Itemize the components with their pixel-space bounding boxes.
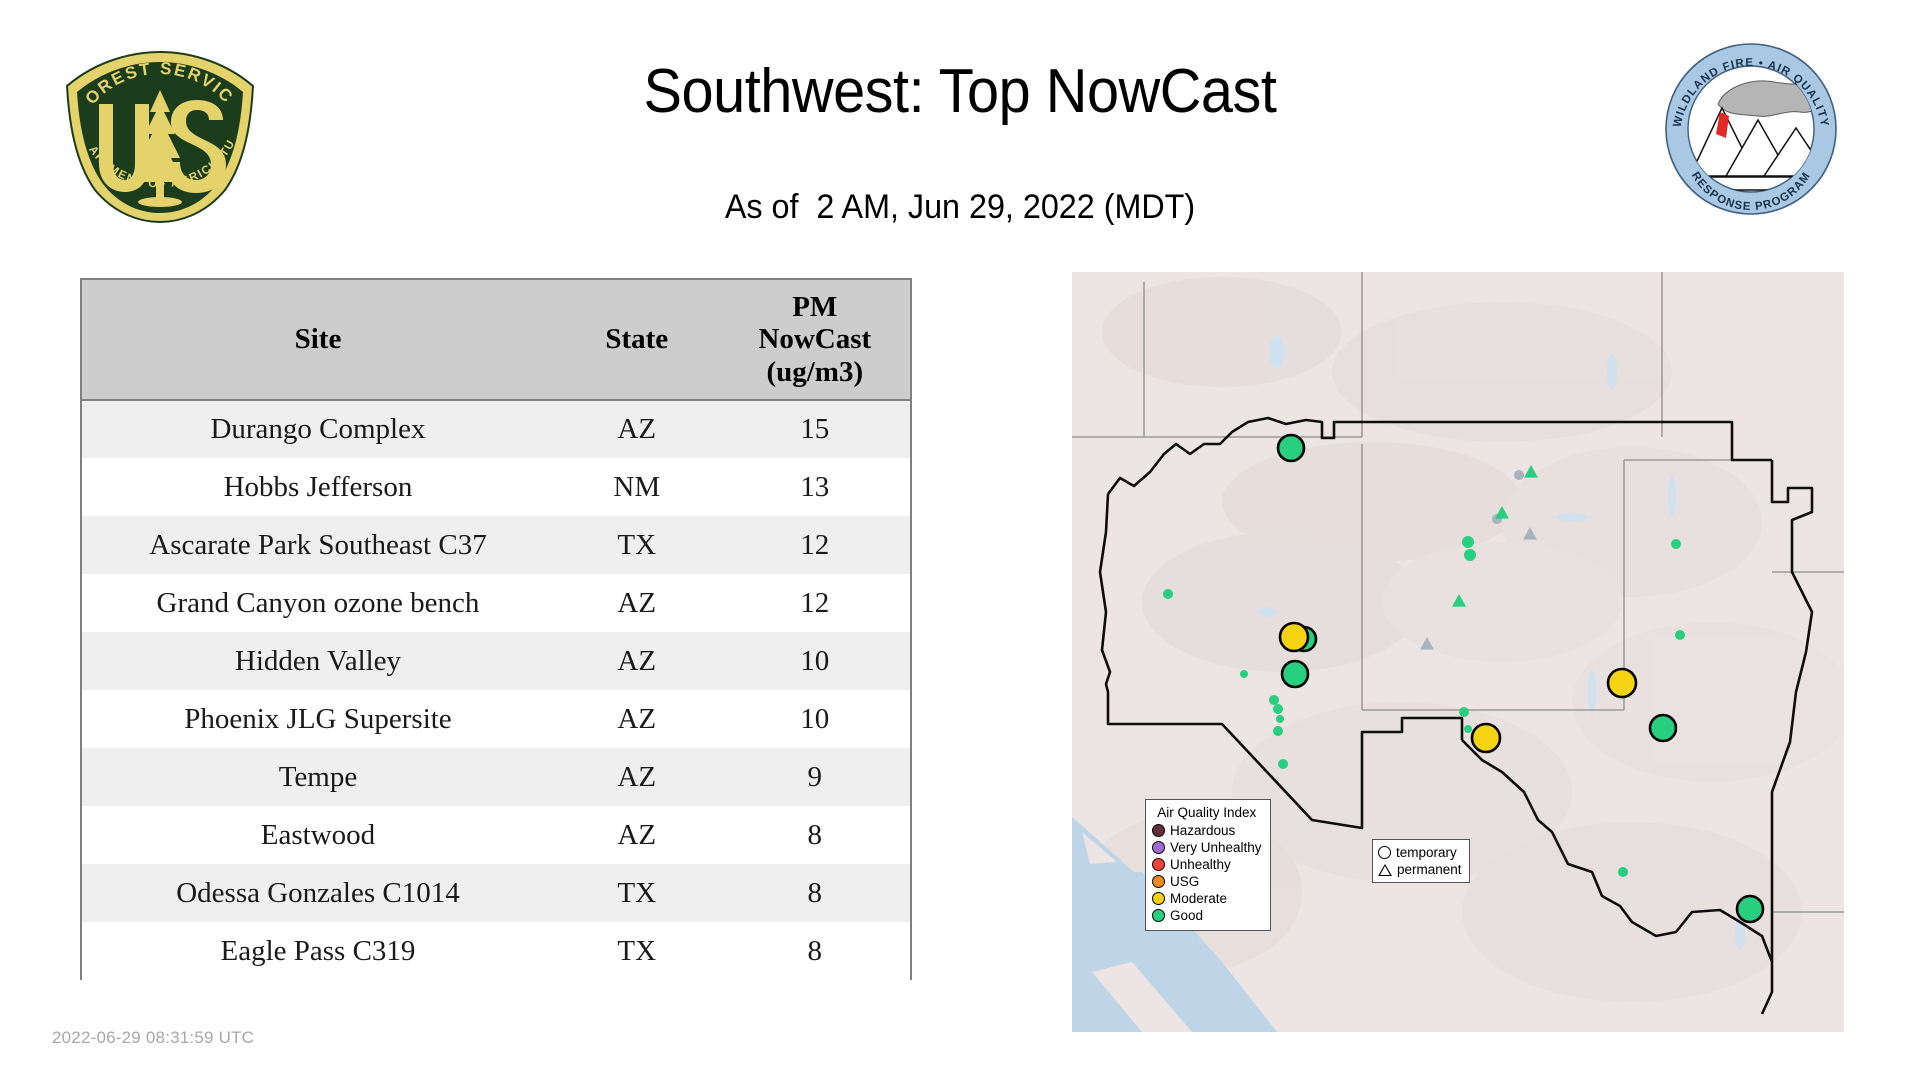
page-subtitle-timestamp: As of 2 AM, Jun 29, 2022 (MDT) bbox=[333, 188, 1587, 227]
aqi-color-swatch bbox=[1152, 824, 1165, 837]
map-marker-minor-site[interactable] bbox=[1278, 759, 1288, 769]
state-cell: TX bbox=[554, 516, 720, 574]
map-marker-minor-site[interactable] bbox=[1464, 725, 1472, 733]
map-marker-minor-site[interactable] bbox=[1163, 589, 1173, 599]
station-type-legend: temporary permanent bbox=[1372, 839, 1470, 883]
aqi-legend-label: Hazardous bbox=[1170, 824, 1235, 838]
map-marker-odessa-gonzales-c1014[interactable] bbox=[1650, 715, 1676, 741]
aqi-legend-title: Air Quality Index bbox=[1152, 805, 1262, 820]
map-marker-eagle-pass-c319[interactable] bbox=[1737, 896, 1763, 922]
triangle-icon bbox=[1378, 864, 1392, 876]
state-cell: AZ bbox=[554, 748, 720, 806]
site-cell: Hobbs Jefferson bbox=[82, 458, 554, 516]
table-row: Eagle Pass C319TX8 bbox=[82, 922, 910, 980]
state-cell: AZ bbox=[554, 574, 720, 632]
state-cell: AZ bbox=[554, 690, 720, 748]
legend-label-temporary: temporary bbox=[1396, 845, 1457, 860]
aqi-legend: Air Quality Index HazardousVery Unhealth… bbox=[1145, 799, 1271, 931]
aqi-color-swatch bbox=[1152, 875, 1165, 888]
site-cell: Eastwood bbox=[82, 806, 554, 864]
pm-value-cell: 12 bbox=[720, 516, 910, 574]
pm-value-cell: 8 bbox=[720, 864, 910, 922]
site-cell: Ascarate Park Southeast C37 bbox=[82, 516, 554, 574]
map-marker-minor-site[interactable] bbox=[1618, 867, 1628, 877]
pm-header-line-2: NowCast bbox=[724, 323, 906, 355]
site-cell: Hidden Valley bbox=[82, 632, 554, 690]
map-marker-tempe[interactable] bbox=[1282, 661, 1308, 687]
pm-value-cell: 8 bbox=[720, 922, 910, 980]
aqi-color-swatch bbox=[1152, 858, 1165, 871]
state-cell: AZ bbox=[554, 806, 720, 864]
legend-label-permanent: permanent bbox=[1397, 862, 1462, 877]
column-header-pm-nowcast: PM NowCast (ug/m3) bbox=[720, 280, 910, 400]
circle-icon bbox=[1378, 846, 1391, 859]
map-marker-minor-site[interactable] bbox=[1462, 536, 1474, 548]
aqi-legend-label: Very Unhealthy bbox=[1170, 841, 1262, 855]
table-row: Hobbs JeffersonNM13 bbox=[82, 458, 910, 516]
wildland-fire-air-quality-response-program-logo: WILDLAND FIRE • AIR QUALITY RESPONSE PRO… bbox=[1660, 42, 1842, 217]
table-row: Grand Canyon ozone benchAZ12 bbox=[82, 574, 910, 632]
pm-value-cell: 13 bbox=[720, 458, 910, 516]
table-row: Durango ComplexAZ15 bbox=[82, 400, 910, 458]
map-marker-grand-canyon-ozone-bench[interactable] bbox=[1278, 435, 1304, 461]
state-cell: AZ bbox=[554, 632, 720, 690]
usda-forest-service-shield-logo: FOREST SERVICE DEPARTMENT OF AGRICULTURE bbox=[55, 42, 265, 227]
air-quality-map[interactable]: Air Quality Index HazardousVery Unhealth… bbox=[1072, 272, 1844, 1032]
map-marker-minor-site[interactable] bbox=[1273, 704, 1283, 714]
site-cell: Tempe bbox=[82, 748, 554, 806]
site-cell: Phoenix JLG Supersite bbox=[82, 690, 554, 748]
table-row: Ascarate Park Southeast C37TX12 bbox=[82, 516, 910, 574]
aqi-color-swatch bbox=[1152, 892, 1165, 905]
site-cell: Eagle Pass C319 bbox=[82, 922, 554, 980]
column-header-site: Site bbox=[82, 280, 554, 400]
site-cell: Grand Canyon ozone bench bbox=[82, 574, 554, 632]
aqi-legend-row: Very Unhealthy bbox=[1152, 839, 1262, 856]
page-title: Southwest: Top NowCast bbox=[346, 56, 1574, 127]
nowcast-table: Site State PM NowCast (ug/m3) Durango Co… bbox=[82, 280, 910, 980]
table-row: Hidden ValleyAZ10 bbox=[82, 632, 910, 690]
aqi-color-swatch bbox=[1152, 841, 1165, 854]
table-header-row: Site State PM NowCast (ug/m3) bbox=[82, 280, 910, 400]
map-marker-nodata-site[interactable] bbox=[1514, 470, 1524, 480]
map-marker-minor-site[interactable] bbox=[1675, 630, 1685, 640]
site-cell: Durango Complex bbox=[82, 400, 554, 458]
map-marker-hobbs-jefferson[interactable] bbox=[1608, 669, 1636, 697]
table-row: EastwoodAZ8 bbox=[82, 806, 910, 864]
map-marker-minor-site[interactable] bbox=[1464, 549, 1476, 561]
table-body: Durango ComplexAZ15Hobbs JeffersonNM13As… bbox=[82, 400, 910, 980]
pm-header-line-3: (ug/m3) bbox=[724, 356, 906, 388]
aqi-color-swatch bbox=[1152, 909, 1165, 922]
map-marker-minor-site[interactable] bbox=[1671, 539, 1681, 549]
state-cell: TX bbox=[554, 922, 720, 980]
aqi-legend-row: USG bbox=[1152, 873, 1262, 890]
map-marker-minor-site[interactable] bbox=[1276, 715, 1284, 723]
aqi-legend-row: Good bbox=[1152, 907, 1262, 924]
map-marker-minor-site[interactable] bbox=[1240, 670, 1248, 678]
state-cell: NM bbox=[554, 458, 720, 516]
legend-row-temporary: temporary bbox=[1378, 844, 1462, 861]
aqi-legend-row: Unhealthy bbox=[1152, 856, 1262, 873]
pm-header-line-1: PM bbox=[724, 291, 906, 323]
aqi-legend-row: Moderate bbox=[1152, 890, 1262, 907]
aqi-legend-label: USG bbox=[1170, 875, 1199, 889]
state-cell: TX bbox=[554, 864, 720, 922]
table-row: Phoenix JLG SupersiteAZ10 bbox=[82, 690, 910, 748]
site-cell: Odessa Gonzales C1014 bbox=[82, 864, 554, 922]
aqi-legend-row: Hazardous bbox=[1152, 822, 1262, 839]
legend-row-permanent: permanent bbox=[1378, 861, 1462, 878]
table-row: TempeAZ9 bbox=[82, 748, 910, 806]
map-marker-ascarate-park-southeast-c37[interactable] bbox=[1472, 724, 1500, 752]
pm-value-cell: 8 bbox=[720, 806, 910, 864]
map-marker-minor-site[interactable] bbox=[1273, 726, 1283, 736]
table-header: Site State PM NowCast (ug/m3) bbox=[82, 280, 910, 400]
pm-value-cell: 10 bbox=[720, 690, 910, 748]
aqi-legend-label: Unhealthy bbox=[1170, 858, 1231, 872]
table-row: Odessa Gonzales C1014TX8 bbox=[82, 864, 910, 922]
footer-timestamp: 2022-06-29 08:31:59 UTC bbox=[52, 1028, 254, 1048]
aqi-legend-label: Moderate bbox=[1170, 892, 1227, 906]
aqi-legend-label: Good bbox=[1170, 909, 1203, 923]
map-marker-minor-site[interactable] bbox=[1269, 695, 1279, 705]
nowcast-report-page: FOREST SERVICE DEPARTMENT OF AGRICULTURE bbox=[0, 0, 1920, 1080]
pm-value-cell: 9 bbox=[720, 748, 910, 806]
nowcast-table-container: Site State PM NowCast (ug/m3) Durango Co… bbox=[80, 278, 912, 980]
pm-value-cell: 15 bbox=[720, 400, 910, 458]
column-header-state: State bbox=[554, 280, 720, 400]
map-marker-phoenix-jlg-supersite[interactable] bbox=[1280, 623, 1308, 651]
map-marker-minor-site[interactable] bbox=[1459, 707, 1469, 717]
pm-value-cell: 12 bbox=[720, 574, 910, 632]
pm-value-cell: 10 bbox=[720, 632, 910, 690]
state-cell: AZ bbox=[554, 400, 720, 458]
